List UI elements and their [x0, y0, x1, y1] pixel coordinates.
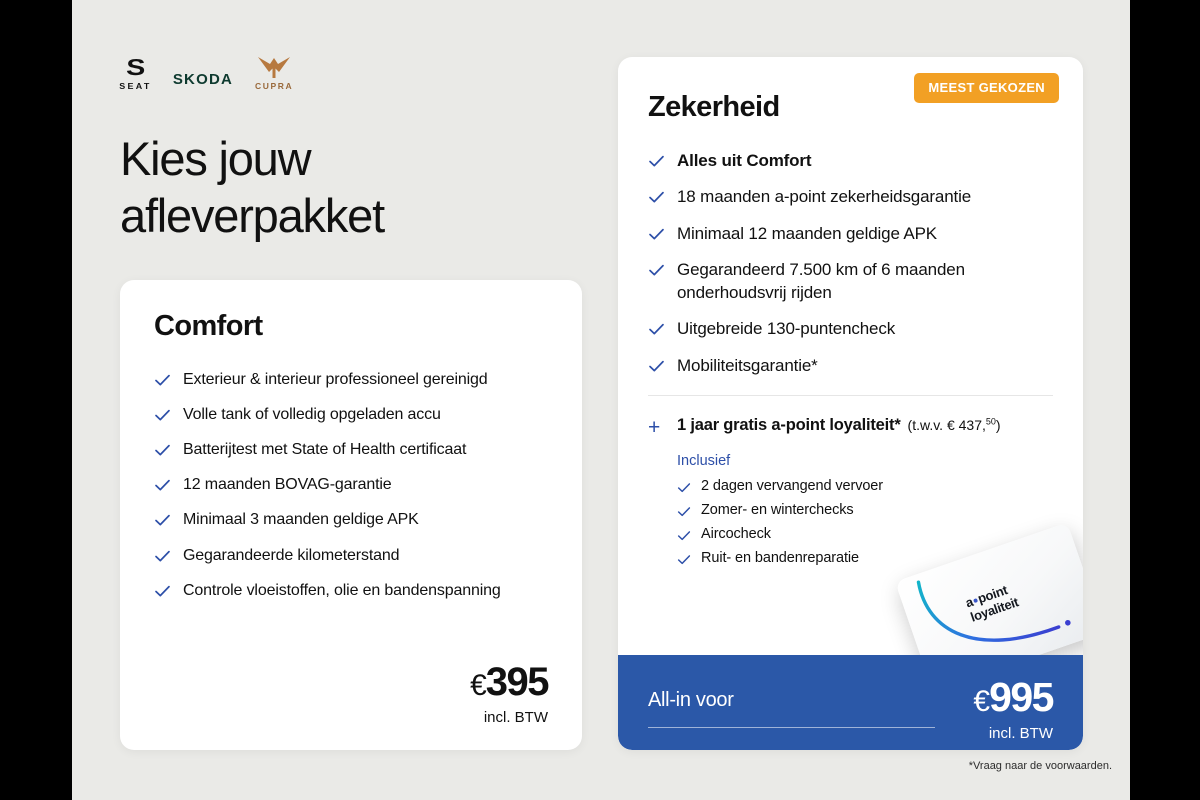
loyalty-value: (t.w.v. € 437,50): [908, 417, 1001, 433]
comfort-feature-list: Exterieur & interieur professioneel gere…: [154, 369, 548, 601]
zekerheid-price: €995: [973, 677, 1053, 718]
status-badge: MEEST GEKOZEN: [914, 73, 1059, 103]
list-item: Batterijtest met State of Health certifi…: [154, 439, 548, 460]
check-icon: [154, 583, 171, 600]
zekerheid-price-block: €995 incl. BTW: [973, 677, 1053, 742]
list-item-label: Uitgebreide 130-puntencheck: [677, 318, 895, 340]
list-item: Gegarandeerde kilometerstand: [154, 545, 548, 566]
seat-wordmark: SEAT: [119, 81, 151, 91]
comfort-price-note: incl. BTW: [470, 709, 548, 726]
list-item-label: Gegarandeerd 7.500 km of 6 maanden onder…: [677, 259, 1053, 304]
list-item-label: Alles uit Comfort: [677, 150, 811, 172]
check-icon: [677, 505, 691, 519]
list-item-label: Exterieur & interieur professioneel gere…: [183, 369, 488, 390]
list-item-label: Volle tank of volledig opgeladen accu: [183, 404, 441, 425]
list-item: Exterieur & interieur professioneel gere…: [154, 369, 548, 390]
comfort-price-amount: 395: [486, 660, 548, 704]
check-icon: [648, 321, 665, 338]
loyalty-value-cents: 50: [986, 416, 996, 426]
list-item: Gegarandeerd 7.500 km of 6 maanden onder…: [648, 259, 1053, 304]
check-icon: [648, 153, 665, 170]
page-title: Kies jouw afleverpakket: [120, 130, 540, 245]
check-icon: [154, 548, 171, 565]
footer-rule: [648, 727, 935, 728]
list-item: Alles uit Comfort: [648, 150, 1053, 172]
list-item: Aircocheck: [677, 526, 1053, 543]
list-item: Minimaal 12 maanden geldige APK: [648, 223, 1053, 245]
zekerheid-footer: All-in voor €995 incl. BTW: [618, 655, 1083, 750]
section-divider: [648, 395, 1053, 396]
loyalty-value-prefix: (t.w.v. € 437,: [908, 417, 986, 433]
list-item: 12 maanden BOVAG-garantie: [154, 474, 548, 495]
loyalty-header: + 1 jaar gratis a-point loyaliteit*(t.w.…: [648, 416, 1053, 438]
list-item-label: Aircocheck: [701, 526, 771, 542]
seat-mark-icon: S: [126, 56, 145, 79]
list-item-label: Ruit- en bandenreparatie: [701, 550, 859, 566]
currency-symbol: €: [470, 669, 486, 702]
list-item: Zomer- en winterchecks: [677, 502, 1053, 519]
list-item-label: 12 maanden BOVAG-garantie: [183, 474, 392, 495]
package-card-zekerheid[interactable]: MEEST GEKOZEN Zekerheid Alles uit Comfor…: [618, 57, 1083, 750]
check-icon: [154, 407, 171, 424]
list-item-label: Batterijtest met State of Health certifi…: [183, 439, 466, 460]
list-item: 2 dagen vervangend vervoer: [677, 478, 1053, 495]
cupra-wordmark: CUPRA: [255, 81, 293, 91]
list-item: Controle vloeistoffen, olie en bandenspa…: [154, 580, 548, 601]
allin-label: All-in voor: [648, 677, 734, 712]
check-icon: [677, 481, 691, 495]
zekerheid-feature-list: Alles uit Comfort 18 maanden a-point zek…: [648, 150, 1053, 377]
comfort-title: Comfort: [154, 310, 548, 343]
page-canvas: S SEAT SKODA CUPRA Kies jouw afleverpakk…: [72, 0, 1130, 800]
cupra-logo: CUPRA: [255, 55, 293, 91]
comfort-price-block: €395 incl. BTW: [470, 662, 548, 726]
comfort-price: €395: [470, 662, 548, 702]
footnote: *Vraag naar de voorwaarden.: [969, 760, 1112, 772]
loyalty-value-suffix: ): [996, 417, 1001, 433]
check-icon: [648, 262, 665, 279]
plus-icon: +: [648, 417, 665, 438]
inclusief-label: Inclusief: [677, 453, 1053, 469]
list-item: Minimaal 3 maanden geldige APK: [154, 509, 548, 530]
list-item-label: Minimaal 12 maanden geldige APK: [677, 223, 937, 245]
check-icon: [154, 442, 171, 459]
list-item-label: Gegarandeerde kilometerstand: [183, 545, 399, 566]
currency-symbol: €: [973, 685, 989, 718]
skoda-wordmark: SKODA: [173, 71, 233, 88]
check-icon: [648, 358, 665, 375]
list-item: Mobiliteitsgarantie*: [648, 355, 1053, 377]
list-item: Volle tank of volledig opgeladen accu: [154, 404, 548, 425]
check-icon: [677, 553, 691, 567]
cupra-mark-icon: [257, 55, 291, 79]
list-item-label: 18 maanden a-point zekerheidsgarantie: [677, 186, 971, 208]
skoda-logo: SKODA: [173, 71, 233, 91]
check-icon: [154, 477, 171, 494]
check-icon: [648, 226, 665, 243]
zekerheid-price-note: incl. BTW: [973, 725, 1053, 742]
list-item-label: Controle vloeistoffen, olie en bandenspa…: [183, 580, 501, 601]
list-item-label: Minimaal 3 maanden geldige APK: [183, 509, 419, 530]
list-item: 18 maanden a-point zekerheidsgarantie: [648, 186, 1053, 208]
check-icon: [648, 189, 665, 206]
check-icon: [677, 529, 691, 543]
list-item-label: 2 dagen vervangend vervoer: [701, 478, 883, 494]
loyalty-title: 1 jaar gratis a-point loyaliteit*: [677, 416, 901, 434]
seat-logo: S SEAT: [120, 56, 151, 91]
list-item-label: Mobiliteitsgarantie*: [677, 355, 818, 377]
list-item-label: Zomer- en winterchecks: [701, 502, 854, 518]
brand-logos: S SEAT SKODA CUPRA: [120, 55, 293, 91]
zekerheid-price-amount: 995: [989, 674, 1053, 720]
check-icon: [154, 512, 171, 529]
check-icon: [154, 372, 171, 389]
package-card-comfort[interactable]: Comfort Exterieur & interieur profession…: [120, 280, 582, 750]
screenshot-stage: S SEAT SKODA CUPRA Kies jouw afleverpakk…: [0, 0, 1200, 800]
list-item: Uitgebreide 130-puntencheck: [648, 318, 1053, 340]
